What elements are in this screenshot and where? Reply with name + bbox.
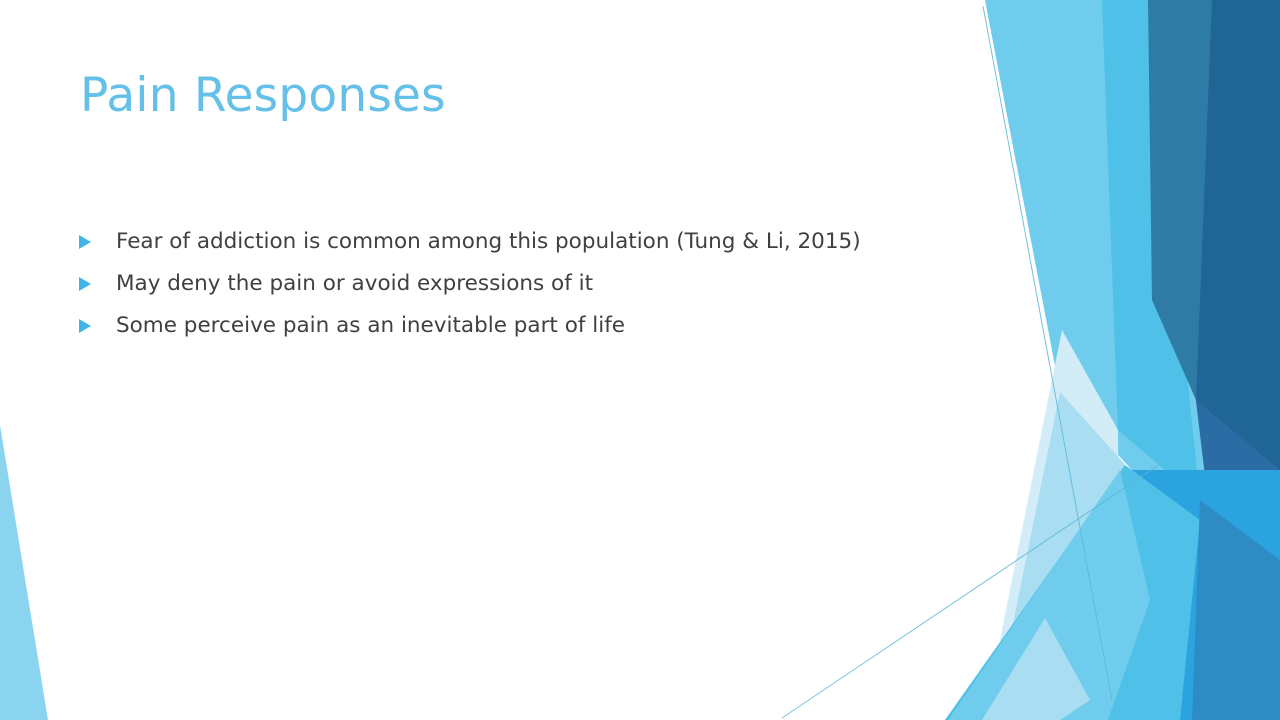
left-sliver-triangle (0, 425, 48, 720)
list-item: Fear of addiction is common among this p… (78, 228, 918, 256)
triangle-right-icon (78, 276, 92, 292)
shape-steel-blue-mid-accent (1148, 0, 1212, 400)
shape-pale-blue-wedge (1000, 330, 1120, 720)
shape-medium-blue-lower-accent (1192, 500, 1280, 720)
bullet-list: Fear of addiction is common among this p… (78, 228, 918, 340)
triangle-right-icon (78, 318, 92, 334)
shape-bright-blue-lower (945, 470, 1280, 720)
shape-light-blue-wedge (1008, 392, 1130, 720)
hairline-descending-right (983, 6, 1112, 700)
shape-cyan-lower-overlay (945, 465, 1200, 720)
shape-deep-blue-right-column (1145, 0, 1280, 720)
bullet-text: May deny the pain or avoid expressions o… (116, 270, 593, 298)
triangle-right-icon (78, 234, 92, 250)
hairline-descending-left (782, 462, 1163, 718)
shape-pale-bottom-triangle (982, 618, 1090, 720)
slide-canvas: Pain Responses Fear of addiction is comm… (0, 0, 1280, 720)
shape-medium-blue-band (1102, 0, 1200, 500)
list-item: Some perceive pain as an inevitable part… (78, 312, 918, 340)
bullet-text: Some perceive pain as an inevitable part… (116, 312, 625, 340)
shape-dark-blue-upper-wedge (1196, 0, 1280, 470)
shape-sky-lower-triangle (948, 470, 1150, 720)
list-item: May deny the pain or avoid expressions o… (78, 270, 918, 298)
shape-sky-blue-main-band (985, 0, 1215, 560)
page-title: Pain Responses (80, 68, 446, 123)
bullet-text: Fear of addiction is common among this p… (116, 228, 861, 256)
